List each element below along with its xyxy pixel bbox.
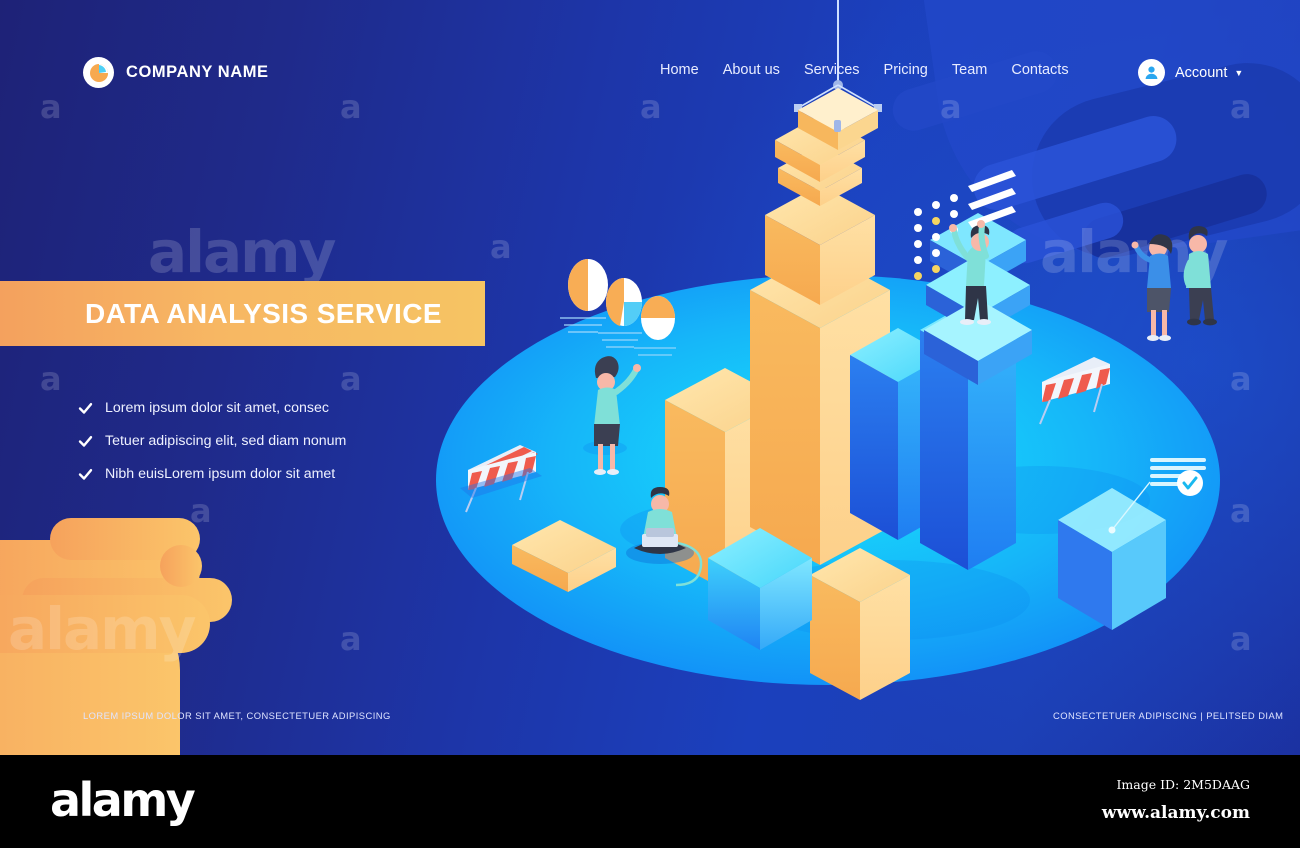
watermark-letter: a [40, 360, 62, 398]
nav-item-services[interactable]: Services [804, 62, 860, 78]
hero-section: a a a a a alamy alamy a a a a a a alamy … [0, 0, 1300, 755]
alamy-url: www.alamy.com [1102, 803, 1250, 823]
list-item: Lorem ipsum dolor sit amet, consec [78, 400, 346, 416]
check-icon [78, 434, 93, 449]
main-nav: Home About us Services Pricing Team Cont… [660, 62, 1069, 78]
footer-text-left: LOREM IPSUM DOLOR SIT AMET, CONSECTETUER… [83, 710, 391, 721]
list-item: Tetuer adipiscing elit, sed diam nonum [78, 433, 346, 449]
stock-watermark-bar: alamy Image ID: 2M5DAAG www.alamy.com [0, 755, 1300, 848]
account-label: Account [1175, 65, 1227, 81]
nav-item-about-us[interactable]: About us [723, 62, 780, 78]
feature-list: Lorem ipsum dolor sit amet, consec Tetue… [78, 400, 346, 499]
hero-illustration [420, 0, 1300, 755]
two-people-top-right [1132, 226, 1218, 341]
check-icon [78, 401, 93, 416]
account-menu[interactable]: Account ▼ [1138, 59, 1243, 86]
page-title: DATA ANALYSIS SERVICE [85, 298, 442, 330]
image-id-label: Image ID: 2M5DAAG [1116, 777, 1250, 792]
chevron-down-icon[interactable]: ▼ [1234, 68, 1243, 78]
woman-blue [1132, 234, 1173, 341]
decor-orange-pill-4 [0, 595, 210, 653]
watermark-word: alamy [148, 218, 334, 286]
screenshot-root: a a a a a alamy alamy a a a a a a alamy … [0, 0, 1300, 848]
alamy-logo: alamy [50, 773, 193, 827]
page-title-banner: DATA ANALYSIS SERVICE [0, 281, 485, 346]
list-item-label: Lorem ipsum dolor sit amet, consec [105, 400, 329, 416]
user-avatar-icon [1138, 59, 1165, 86]
list-item-label: Nibh euisLorem ipsum dolor sit amet [105, 466, 335, 482]
watermark-letter: a [340, 620, 362, 658]
nav-item-contacts[interactable]: Contacts [1011, 62, 1068, 78]
nav-item-home[interactable]: Home [660, 62, 699, 78]
decor-orange-dot [160, 545, 202, 587]
brand-name: COMPANY NAME [126, 63, 269, 82]
orange-bar-front [810, 548, 910, 700]
pie-chart-icon [83, 57, 114, 88]
brand[interactable]: COMPANY NAME [83, 57, 269, 88]
man-teal [1186, 226, 1217, 325]
list-item: Nibh euisLorem ipsum dolor sit amet [78, 466, 346, 482]
list-item-label: Tetuer adipiscing elit, sed diam nonum [105, 433, 346, 449]
site-header: COMPANY NAME Home About us Services Pric… [0, 0, 1300, 110]
nav-item-pricing[interactable]: Pricing [884, 62, 928, 78]
check-icon [78, 467, 93, 482]
nav-item-team[interactable]: Team [952, 62, 987, 78]
footer-text-right: CONSECTETUER ADIPISCING | PELITSED DIAM [1053, 710, 1283, 721]
watermark-letter: a [340, 360, 362, 398]
